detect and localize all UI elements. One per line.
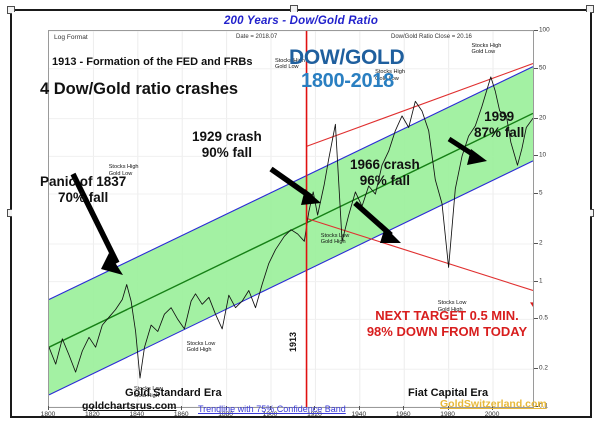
y-axis-tick-label: 0.2 bbox=[539, 365, 548, 372]
y-axis-tick-mark bbox=[534, 368, 538, 369]
y-axis-tick-mark bbox=[534, 281, 538, 282]
crashes-headline: 4 Dow/Gold ratio crashes bbox=[40, 80, 238, 99]
x-axis-tick-label: 1800 bbox=[41, 411, 56, 416]
y-axis-tick-mark bbox=[534, 243, 538, 244]
y-axis-tick-mark bbox=[534, 155, 538, 156]
date-label: Date = 2018.07 bbox=[236, 34, 277, 40]
y-axis-tick-label: 1 bbox=[539, 277, 543, 284]
source-link-goldchartsrus[interactable]: goldchartsrus.com bbox=[82, 400, 177, 412]
y-axis-tick-mark bbox=[534, 118, 538, 119]
y-axis-tick-mark bbox=[534, 30, 538, 31]
x-axis-tick-mark bbox=[403, 406, 404, 410]
selection-border-top bbox=[10, 9, 592, 11]
x-axis-tick-label: 2000 bbox=[485, 411, 500, 416]
x-axis-tick-mark bbox=[359, 406, 360, 410]
fed-1913-axis-label: 1913 bbox=[288, 332, 298, 352]
y-axis-tick-label: 100 bbox=[539, 27, 550, 34]
big-title-line1: DOW/GOLD bbox=[289, 46, 404, 70]
chart-banner-title: 200 Years - Dow/Gold Ratio bbox=[12, 12, 590, 30]
x-axis-tick-label: 1940 bbox=[351, 411, 366, 416]
log-format-label: Log Format bbox=[54, 34, 88, 41]
y-axis-tick-mark bbox=[534, 68, 538, 69]
image-selection-frame[interactable]: 200 Years - Dow/Gold Ratio bbox=[0, 0, 600, 426]
annotation-crash-1929: 1929 crash 90% fall bbox=[192, 129, 262, 161]
trendline-band-caption: Trendline with 75% Confidence Band bbox=[198, 404, 346, 414]
annotation-crash-1999: 1999 87% fall bbox=[474, 109, 524, 141]
next-target-forecast-text: NEXT TARGET 0.5 MIN. 98% DOWN FROM TODAY bbox=[342, 308, 552, 341]
series-point-label: Stocks High Gold Low bbox=[471, 43, 501, 56]
y-axis-tick-label: 2 bbox=[539, 239, 543, 246]
y-axis-tick-mark bbox=[534, 193, 538, 194]
series-point-label: Stocks Low Gold High bbox=[321, 233, 350, 246]
dow-gold-ratio-chart: 200 Years - Dow/Gold Ratio bbox=[12, 12, 590, 416]
annotation-crash-1966: 1966 crash 96% fall bbox=[350, 157, 420, 189]
x-axis-tick-mark bbox=[181, 406, 182, 410]
x-axis-tick-label: 1960 bbox=[396, 411, 411, 416]
x-axis-tick-mark bbox=[48, 406, 49, 410]
y-axis-tick-label: 5 bbox=[539, 190, 543, 197]
annotation-panic-1837: Panic of 1837 70% fall bbox=[40, 174, 126, 206]
y-axis-tick-label: 20 bbox=[539, 114, 546, 121]
fed-formation-note: 1913 - Formation of the FED and FRBs bbox=[52, 56, 252, 68]
close-value-label: Dow/Gold Ratio Close = 20.16 bbox=[391, 34, 472, 40]
y-axis-tick-label: 50 bbox=[539, 64, 546, 71]
x-axis-tick-label: 1980 bbox=[440, 411, 455, 416]
gold-standard-era-label: Gold Standard Era bbox=[125, 387, 222, 399]
big-title-line2: 1800-2018 bbox=[301, 70, 394, 93]
source-link-goldswitzerland[interactable]: GoldSwitzerland.com bbox=[440, 398, 547, 410]
selection-border-bottom bbox=[10, 416, 592, 418]
series-point-label: Stocks Low Gold High bbox=[187, 341, 216, 354]
y-axis-tick-label: 10 bbox=[539, 152, 546, 159]
